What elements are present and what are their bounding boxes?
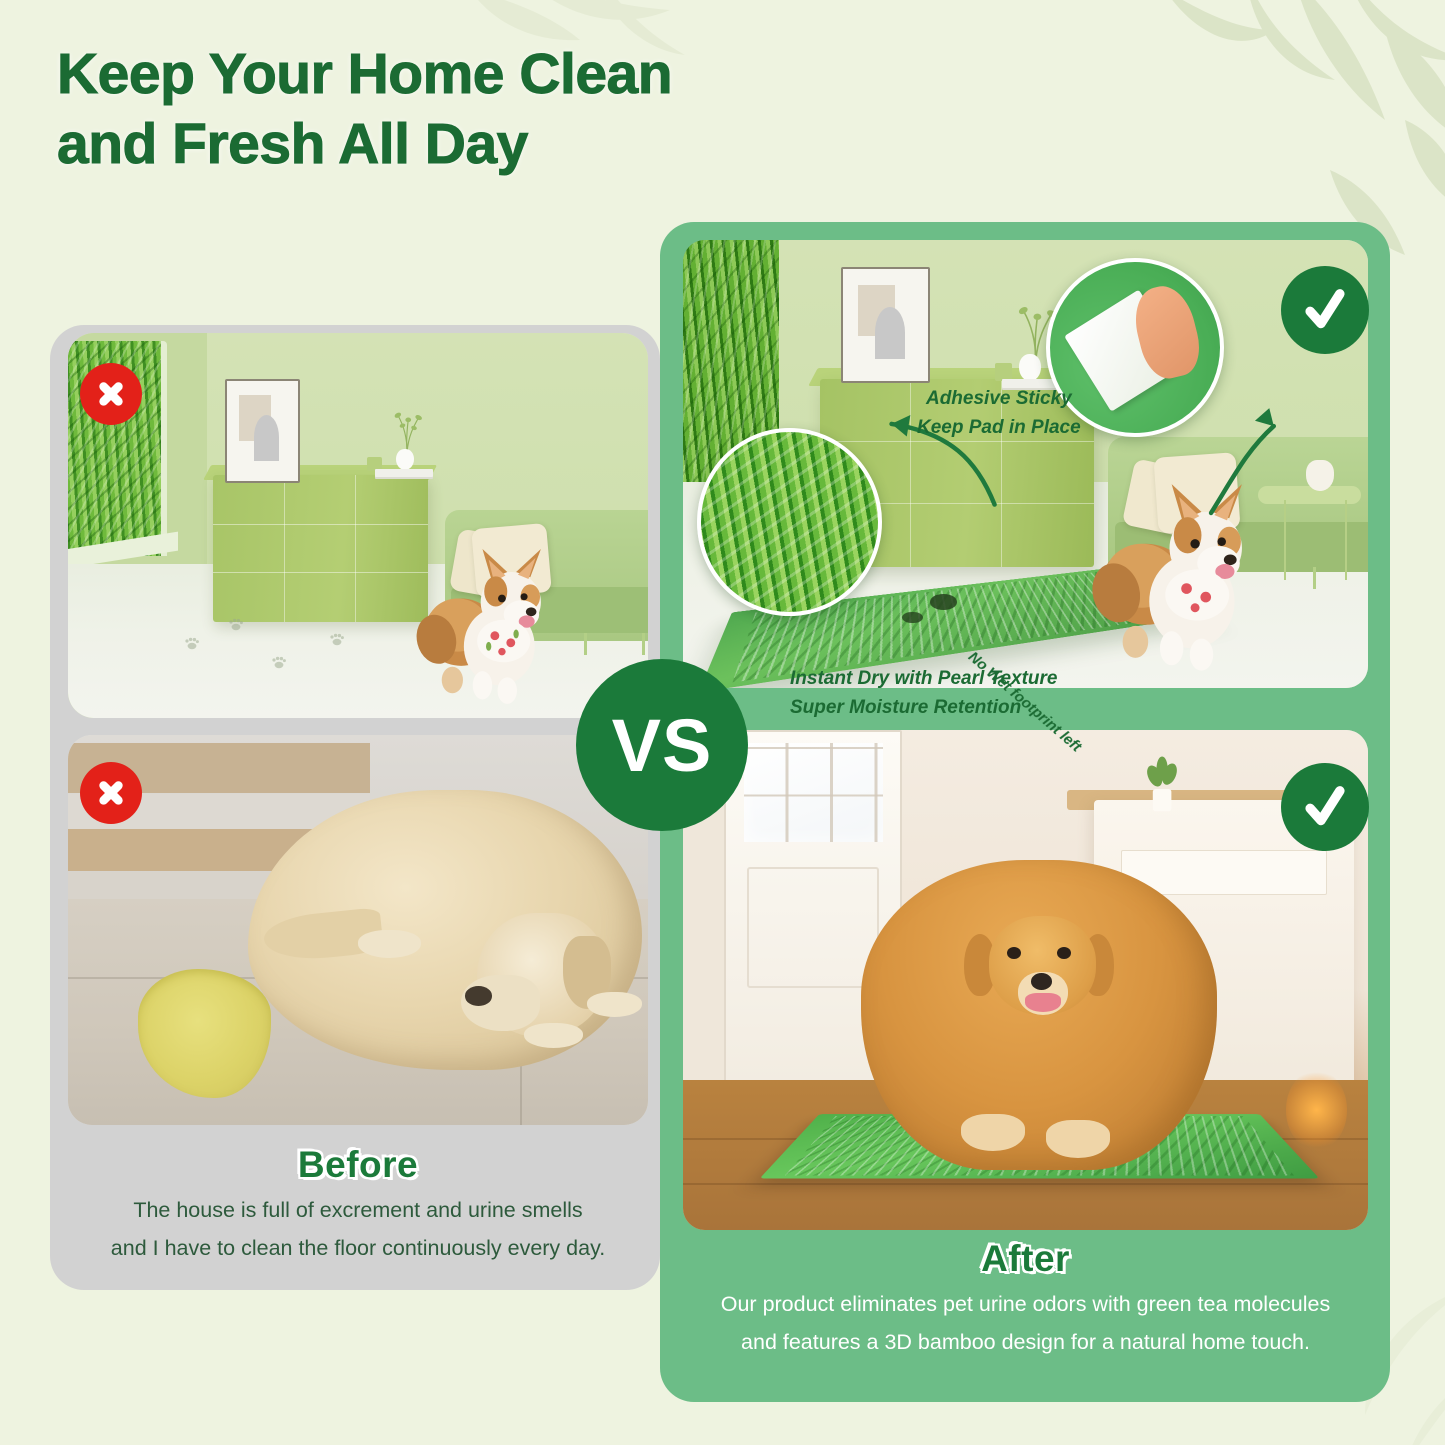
after-caption-body: Our product eliminates pet urine odors w… — [683, 1286, 1368, 1361]
retriever-on-pad-scene — [683, 730, 1368, 1230]
x-icon — [94, 377, 128, 411]
paw-print-icon — [184, 637, 200, 650]
check-mark-badge — [1281, 266, 1369, 354]
bamboo-texture-zoom-circle — [697, 428, 882, 616]
green-cabinet — [213, 475, 428, 621]
poster-root: Keep Your Home Clean and Fresh All Day — [0, 0, 1445, 1445]
before-caption-title: Before — [68, 1144, 648, 1186]
vs-badge: VS — [576, 659, 748, 831]
before-caption-body: The house is full of excrement and urine… — [68, 1192, 648, 1267]
paw-print-icon — [228, 618, 244, 631]
adhesive-annotation: Adhesive Sticky Keep Pad in Place — [917, 384, 1081, 443]
door-glass-panel — [744, 743, 883, 843]
after-caption-line-2: and features a 3D bamboo design for a na… — [683, 1324, 1368, 1362]
corgi-dog-illustration — [399, 533, 573, 710]
check-mark-badge — [1281, 763, 1369, 851]
before-top-image — [68, 333, 648, 718]
curved-arrow-icon — [1156, 401, 1293, 517]
vase — [396, 449, 414, 471]
dog-mouth — [1025, 993, 1061, 1012]
x-icon — [94, 776, 128, 810]
adhesive-annotation-line-2: Keep Pad in Place — [917, 413, 1081, 442]
golden-retriever-on-pad — [861, 860, 1217, 1170]
golden-retriever-lying — [248, 790, 642, 1071]
wall-art-frame — [841, 267, 930, 383]
retriever-puddle-scene — [68, 735, 648, 1125]
x-mark-badge — [80, 762, 142, 824]
plant-icon — [1121, 750, 1203, 815]
plant-icon — [381, 406, 433, 452]
illustrated-room-before — [68, 333, 648, 718]
vase — [1019, 354, 1041, 381]
dog-nose — [1031, 973, 1052, 990]
wall-art-frame — [225, 379, 300, 483]
check-icon — [1298, 283, 1352, 337]
door-lower-panel — [747, 867, 879, 988]
paw-print-icon — [271, 656, 287, 669]
before-bottom-image — [68, 735, 648, 1125]
warm-lamp-glow — [1286, 1070, 1348, 1150]
books-stack — [375, 469, 433, 476]
before-caption-line-1: The house is full of excrement and urine… — [68, 1192, 648, 1230]
page-title: Keep Your Home Clean and Fresh All Day — [57, 40, 877, 179]
after-top-image — [683, 240, 1368, 688]
after-caption-title: After — [683, 1238, 1368, 1280]
illustrated-room-after — [683, 240, 1368, 688]
x-mark-badge — [80, 363, 142, 425]
headline-line-1: Keep Your Home Clean — [57, 40, 877, 110]
after-bottom-image — [683, 730, 1368, 1230]
after-caption-line-1: Our product eliminates pet urine odors w… — [683, 1286, 1368, 1324]
adhesive-annotation-line-1: Adhesive Sticky — [917, 384, 1081, 413]
dog-nose — [465, 986, 493, 1006]
headline-line-2: and Fresh All Day — [57, 110, 877, 180]
before-caption-line-2: and I have to clean the floor continuous… — [68, 1230, 648, 1268]
check-icon — [1298, 780, 1352, 834]
paw-print-icon — [329, 633, 345, 646]
